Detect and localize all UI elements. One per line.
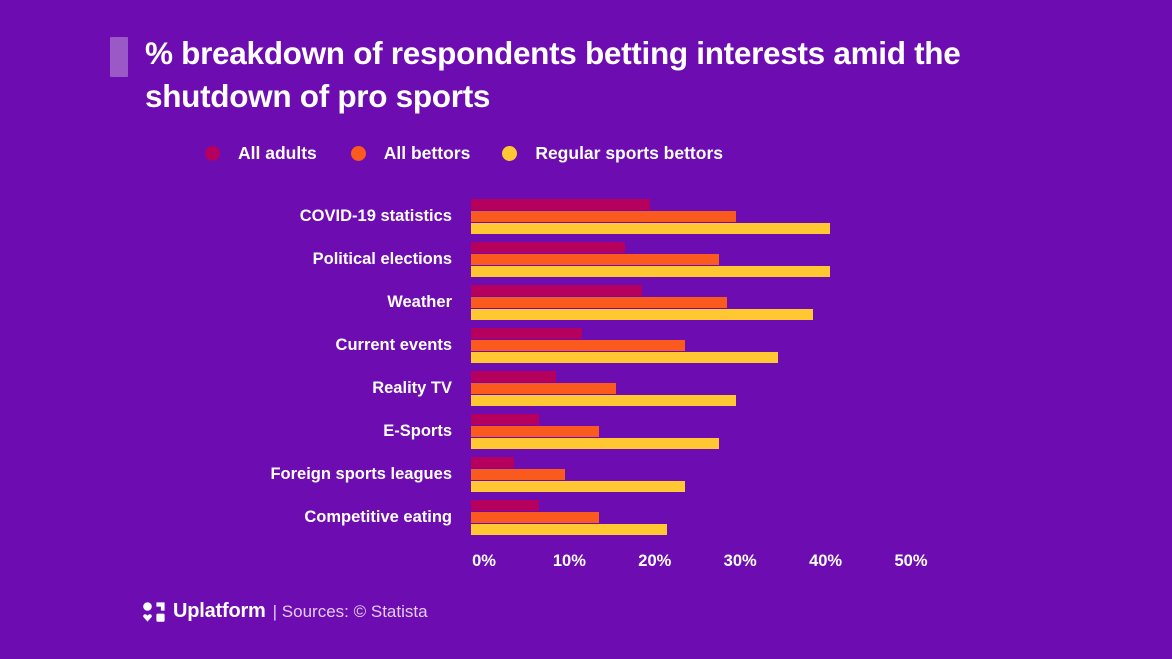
bar-group <box>471 199 1131 235</box>
bar-all-adults[interactable] <box>471 500 539 511</box>
x-axis-tick: 0% <box>472 552 496 571</box>
chart-row: Weather <box>0 281 1172 324</box>
bar-group <box>471 328 1131 364</box>
bar-all-adults[interactable] <box>471 199 650 210</box>
bar-all-bettors[interactable] <box>471 383 616 394</box>
bar-group <box>471 285 1131 321</box>
footer: Uplatform | Sources: © Statista <box>143 600 428 623</box>
category-label: E-Sports <box>0 422 452 441</box>
chart-row: Political elections <box>0 238 1172 281</box>
bar-regular-sports-bettors[interactable] <box>471 309 813 320</box>
chart-row: E-Sports <box>0 410 1172 453</box>
bar-all-bettors[interactable] <box>471 426 599 437</box>
uplatform-logo-icon <box>143 602 165 622</box>
bar-group <box>471 414 1131 450</box>
bar-all-adults[interactable] <box>471 242 625 253</box>
legend-swatch-icon <box>205 146 220 161</box>
category-label: Competitive eating <box>0 508 452 527</box>
bar-all-bettors[interactable] <box>471 469 565 480</box>
bar-all-adults[interactable] <box>471 371 556 382</box>
legend-item-0[interactable]: All adults <box>205 143 317 164</box>
legend-label: All adults <box>238 143 317 164</box>
legend-swatch-icon <box>502 146 517 161</box>
x-axis-tick: 50% <box>894 552 927 571</box>
chart-row: Foreign sports leagues <box>0 453 1172 496</box>
category-label: Foreign sports leagues <box>0 465 452 484</box>
title-row: % breakdown of respondents betting inter… <box>110 32 1080 118</box>
chart-legend: All adultsAll bettorsRegular sports bett… <box>205 143 723 164</box>
chart-canvas: % breakdown of respondents betting inter… <box>0 0 1172 659</box>
bar-regular-sports-bettors[interactable] <box>471 481 685 492</box>
category-label: Political elections <box>0 250 452 269</box>
bar-regular-sports-bettors[interactable] <box>471 223 830 234</box>
bar-group <box>471 500 1131 536</box>
chart-row: Reality TV <box>0 367 1172 410</box>
bar-all-bettors[interactable] <box>471 254 719 265</box>
bar-all-bettors[interactable] <box>471 512 599 523</box>
chart-plot-area: COVID-19 statisticsPolitical electionsWe… <box>0 195 1172 535</box>
x-axis-tick: 30% <box>724 552 757 571</box>
bar-regular-sports-bettors[interactable] <box>471 438 719 449</box>
chart-row: COVID-19 statistics <box>0 195 1172 238</box>
x-axis: 0%10%20%30%40%50% <box>471 552 1131 578</box>
chart-title: % breakdown of respondents betting inter… <box>145 32 1055 118</box>
category-label: Weather <box>0 293 452 312</box>
bar-all-adults[interactable] <box>471 285 642 296</box>
bar-all-adults[interactable] <box>471 414 539 425</box>
bar-regular-sports-bettors[interactable] <box>471 395 736 406</box>
bar-all-adults[interactable] <box>471 457 514 468</box>
bar-regular-sports-bettors[interactable] <box>471 352 778 363</box>
x-axis-tick: 20% <box>638 552 671 571</box>
title-accent-bar <box>110 37 128 77</box>
category-label: Current events <box>0 336 452 355</box>
brand-name: Uplatform <box>173 600 266 623</box>
legend-label: Regular sports bettors <box>535 143 723 164</box>
chart-row: Current events <box>0 324 1172 367</box>
legend-swatch-icon <box>351 146 366 161</box>
legend-label: All bettors <box>384 143 471 164</box>
source-credit: | Sources: © Statista <box>273 602 428 622</box>
category-label: COVID-19 statistics <box>0 207 452 226</box>
bar-all-bettors[interactable] <box>471 211 736 222</box>
x-axis-tick: 10% <box>553 552 586 571</box>
bar-all-adults[interactable] <box>471 328 582 339</box>
legend-item-1[interactable]: All bettors <box>351 143 471 164</box>
category-label: Reality TV <box>0 379 452 398</box>
chart-row: Competitive eating <box>0 496 1172 539</box>
bar-group <box>471 457 1131 493</box>
legend-item-2[interactable]: Regular sports bettors <box>502 143 723 164</box>
bar-all-bettors[interactable] <box>471 340 685 351</box>
bar-regular-sports-bettors[interactable] <box>471 524 667 535</box>
bar-group <box>471 371 1131 407</box>
x-axis-tick: 40% <box>809 552 842 571</box>
bar-all-bettors[interactable] <box>471 297 727 308</box>
bar-group <box>471 242 1131 278</box>
bar-regular-sports-bettors[interactable] <box>471 266 830 277</box>
